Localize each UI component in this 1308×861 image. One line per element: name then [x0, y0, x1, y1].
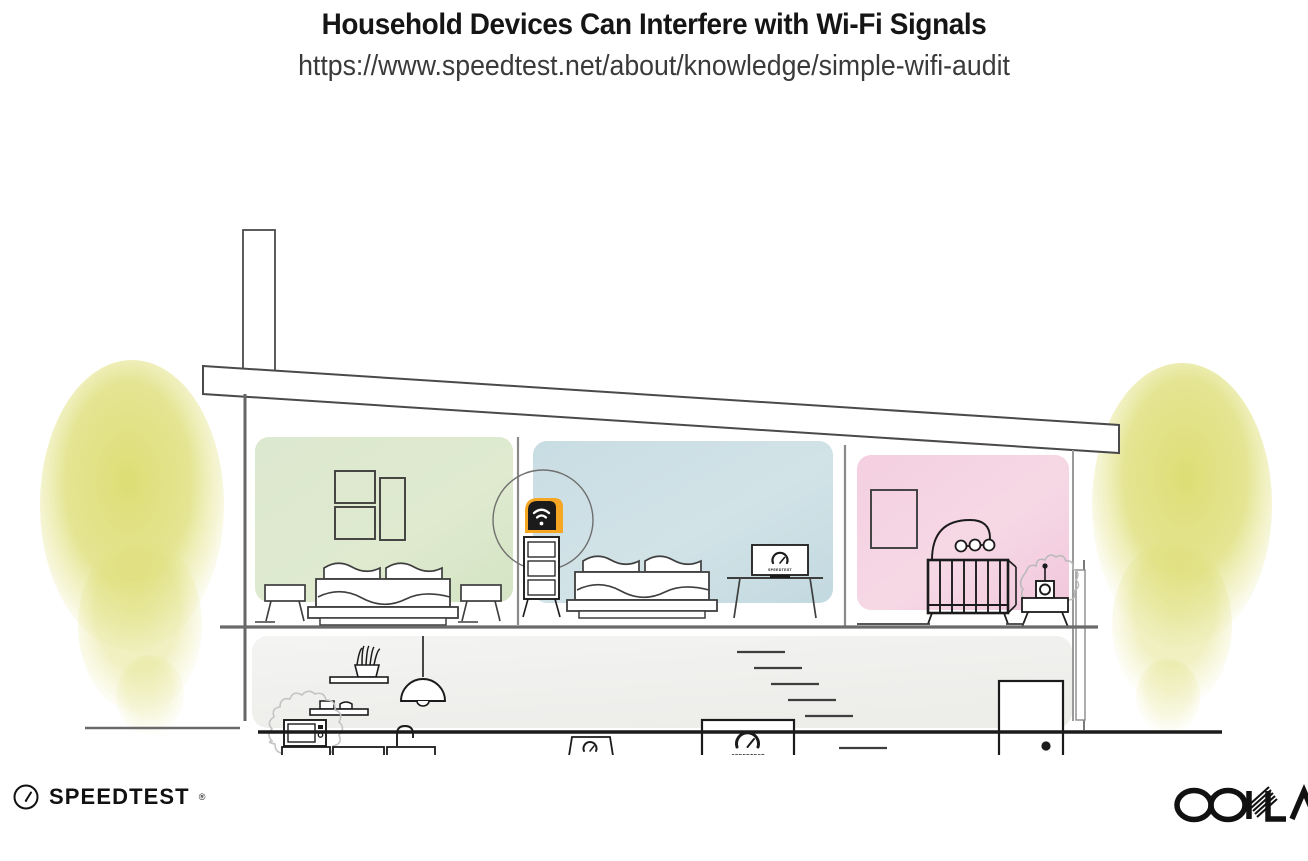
- side-table: [1022, 598, 1068, 627]
- nightstand-left: [265, 585, 305, 621]
- laptop[interactable]: SPEEDTEST: [566, 737, 618, 755]
- speedtest-wordmark: SPEEDTEST: [49, 784, 190, 810]
- ookla-logo[interactable]: ®: [1172, 781, 1308, 832]
- ookla-wordmark-glyphs: [1177, 787, 1308, 820]
- room-lower-level: SPEEDTEST: [252, 636, 1072, 755]
- chimney: [243, 230, 275, 380]
- nightstand-right: [461, 585, 501, 621]
- room-left-bedroom: [255, 437, 513, 625]
- speedtest-trademark: ®: [199, 792, 206, 802]
- house-cutaway-illustration: SPEEDTEST: [0, 105, 1308, 755]
- page-title: Household Devices Can Interfere with Wi-…: [46, 8, 1262, 43]
- speedtest-logo[interactable]: SPEEDTEST ®: [12, 783, 205, 811]
- room-center-bedroom: SPEEDTEST: [493, 441, 833, 618]
- sink-faucet: [397, 726, 413, 746]
- monitor-screen-label: SPEEDTEST: [768, 568, 793, 572]
- source-url: https://www.speedtest.net/about/knowledg…: [52, 49, 1255, 84]
- kitchen-counter: [282, 747, 435, 755]
- wifi-router[interactable]: [525, 498, 563, 533]
- desktop-monitor[interactable]: SPEEDTEST: [752, 545, 808, 578]
- speedtest-gauge-icon: [12, 783, 40, 811]
- television[interactable]: SPEEDTEST: [702, 720, 794, 755]
- header: Household Devices Can Interfere with Wi-…: [0, 0, 1308, 83]
- tv-screen-label: SPEEDTEST: [731, 754, 764, 755]
- front-door[interactable]: [999, 681, 1063, 755]
- room-nursery: [857, 455, 1079, 627]
- infographic-page: Household Devices Can Interfere with Wi-…: [0, 0, 1308, 861]
- foliage-left: [40, 360, 224, 735]
- footer: SPEEDTEST ® ®: [0, 761, 1308, 861]
- doorknob-icon[interactable]: [1041, 741, 1050, 750]
- dresser: [523, 537, 560, 617]
- shelf-upper: [330, 677, 388, 683]
- foliage-right: [1092, 363, 1272, 735]
